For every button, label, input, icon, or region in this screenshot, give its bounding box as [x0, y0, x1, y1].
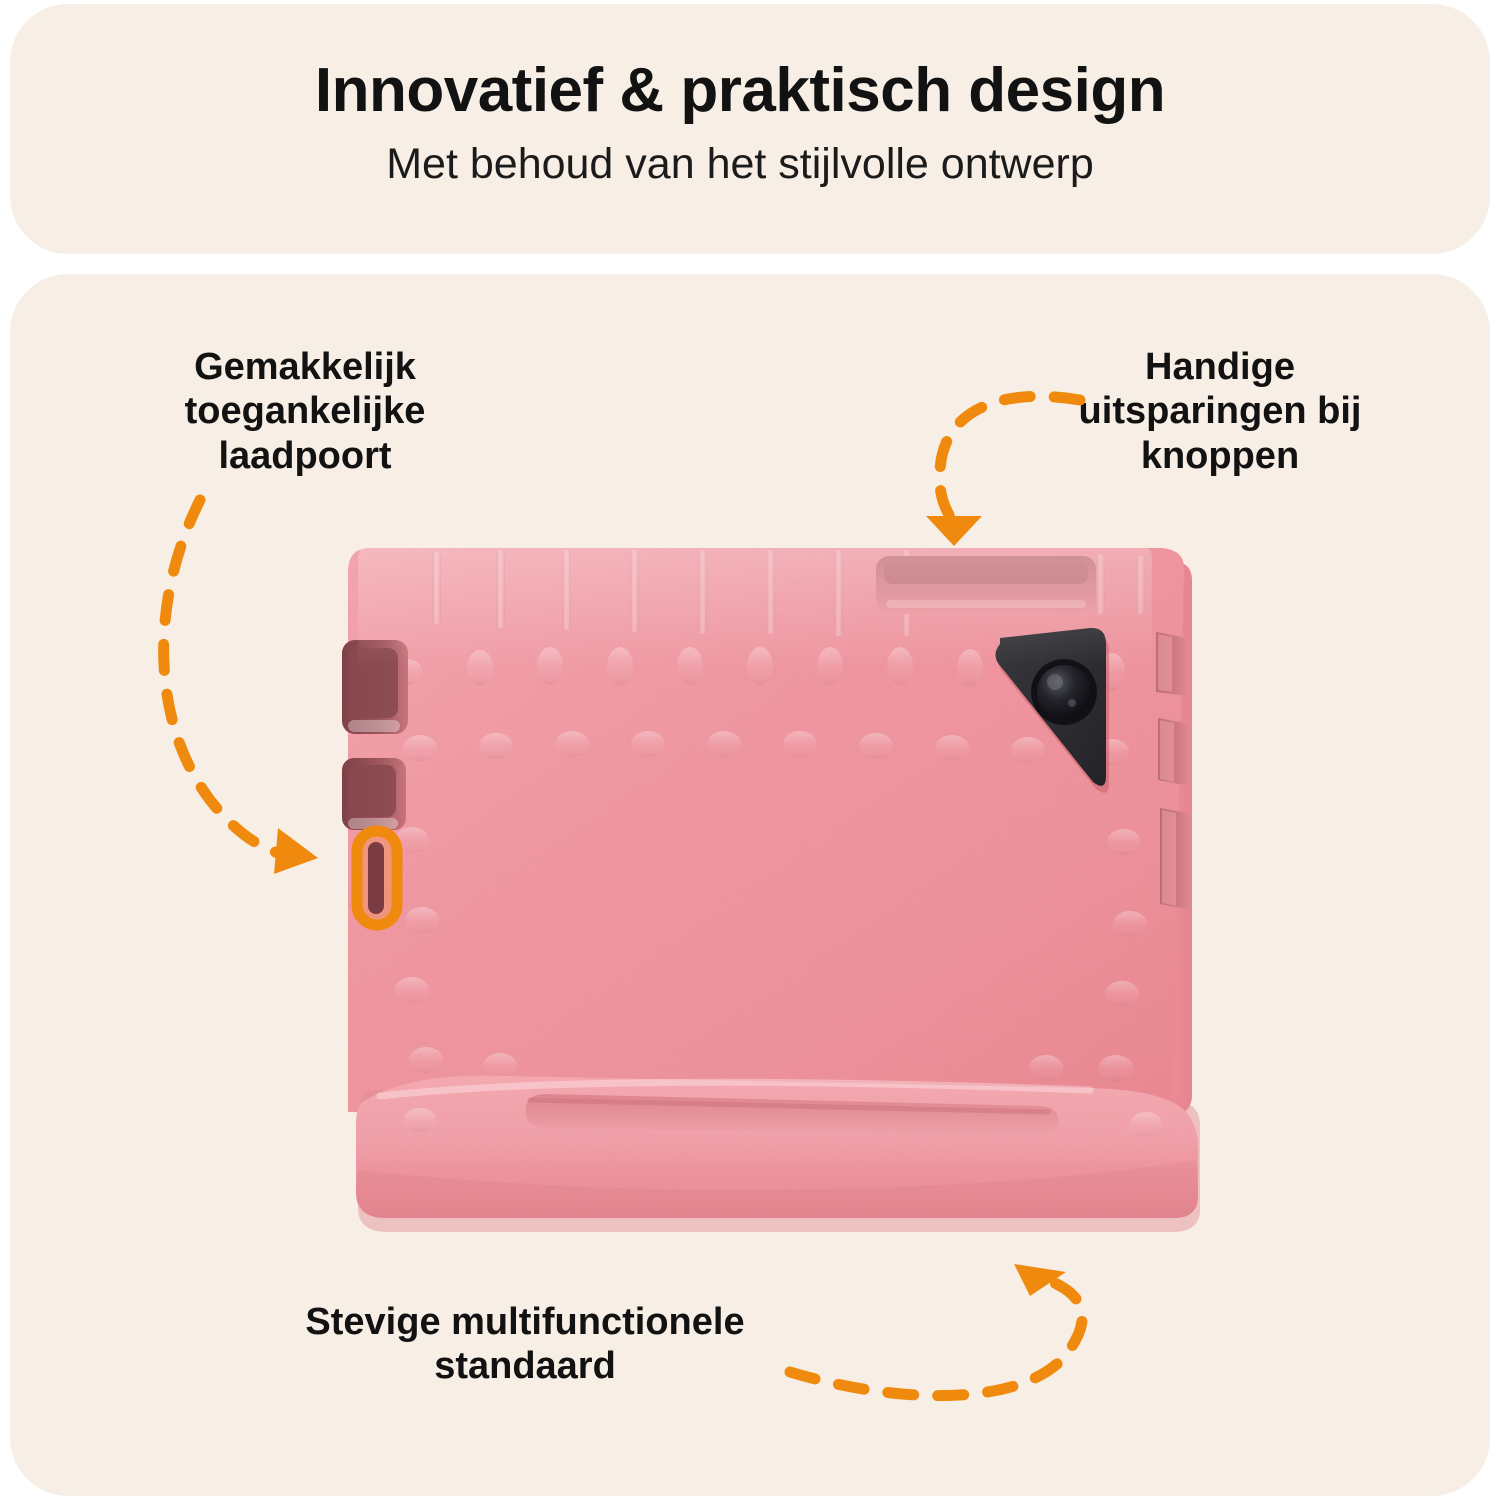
page-title: Innovatief & praktisch design	[0, 55, 1480, 126]
page-subtitle: Met behoud van het stijlvolle ontwerp	[0, 140, 1480, 189]
callout-label-charging-port: Gemakkelijk toegankelijke laadpoort	[105, 345, 505, 478]
body-sheen	[348, 548, 1188, 668]
charging-port-highlight	[352, 826, 402, 930]
foam-stand-bar	[356, 1076, 1200, 1232]
callout-label-stand: Stevige multifunctionele standaard	[215, 1300, 835, 1389]
right-button-cutouts	[1156, 632, 1192, 910]
product-illustration	[300, 520, 1260, 1280]
header-panel	[10, 4, 1490, 254]
callout-label-button-cutouts: Handige uitsparingen bij knoppen	[1060, 345, 1380, 478]
